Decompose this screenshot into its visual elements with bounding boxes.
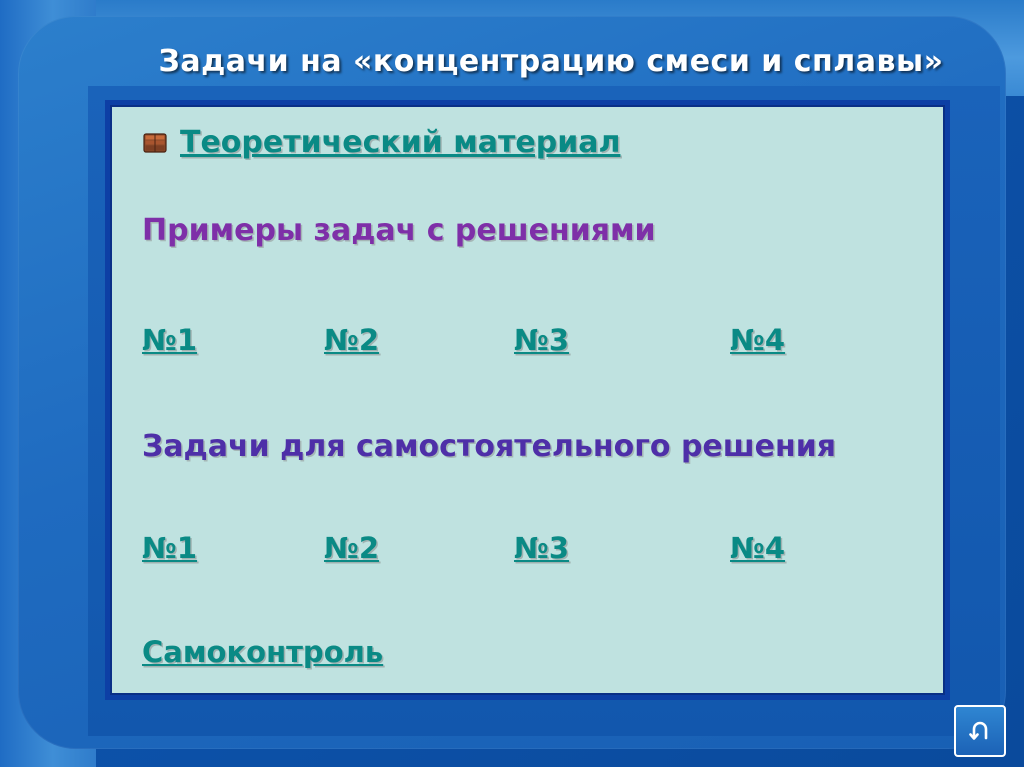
independent-heading-row: Задачи для самостоятельного решения <box>142 429 923 464</box>
independent-links-row: №1 №2 №3 №4 <box>142 531 923 571</box>
selfcheck-row: Самоконтроль <box>142 635 923 669</box>
slide: Задачи на «концентрацию смеси и сплавы» … <box>0 0 1024 767</box>
independent-link-1[interactable]: №1 <box>142 531 197 565</box>
theory-link-row[interactable]: Теоретический материал <box>142 125 923 160</box>
examples-heading-row: Примеры задач с решениями <box>142 213 923 248</box>
independent-link-4[interactable]: №4 <box>730 531 785 565</box>
example-link-4[interactable]: №4 <box>730 323 785 357</box>
page-title: Задачи на «концентрацию смеси и сплавы» <box>159 44 944 79</box>
content-box: Теоретический материал Примеры задач с р… <box>110 105 945 695</box>
title-area: Задачи на «концентрацию смеси и сплавы» <box>96 30 1006 92</box>
selfcheck-link[interactable]: Самоконтроль <box>142 635 383 669</box>
examples-heading: Примеры задач с решениями <box>142 213 656 248</box>
example-link-2[interactable]: №2 <box>324 323 379 357</box>
examples-links-row: №1 №2 №3 №4 <box>142 323 923 363</box>
example-link-3[interactable]: №3 <box>514 323 569 357</box>
return-button[interactable] <box>954 705 1006 757</box>
content-frame: Теоретический материал Примеры задач с р… <box>105 100 950 700</box>
book-icon <box>142 130 168 156</box>
independent-link-3[interactable]: №3 <box>514 531 569 565</box>
example-link-1[interactable]: №1 <box>142 323 197 357</box>
return-arrow-icon <box>965 716 995 746</box>
independent-link-2[interactable]: №2 <box>324 531 379 565</box>
theory-link[interactable]: Теоретический материал <box>180 125 620 160</box>
independent-heading: Задачи для самостоятельного решения <box>142 429 836 464</box>
